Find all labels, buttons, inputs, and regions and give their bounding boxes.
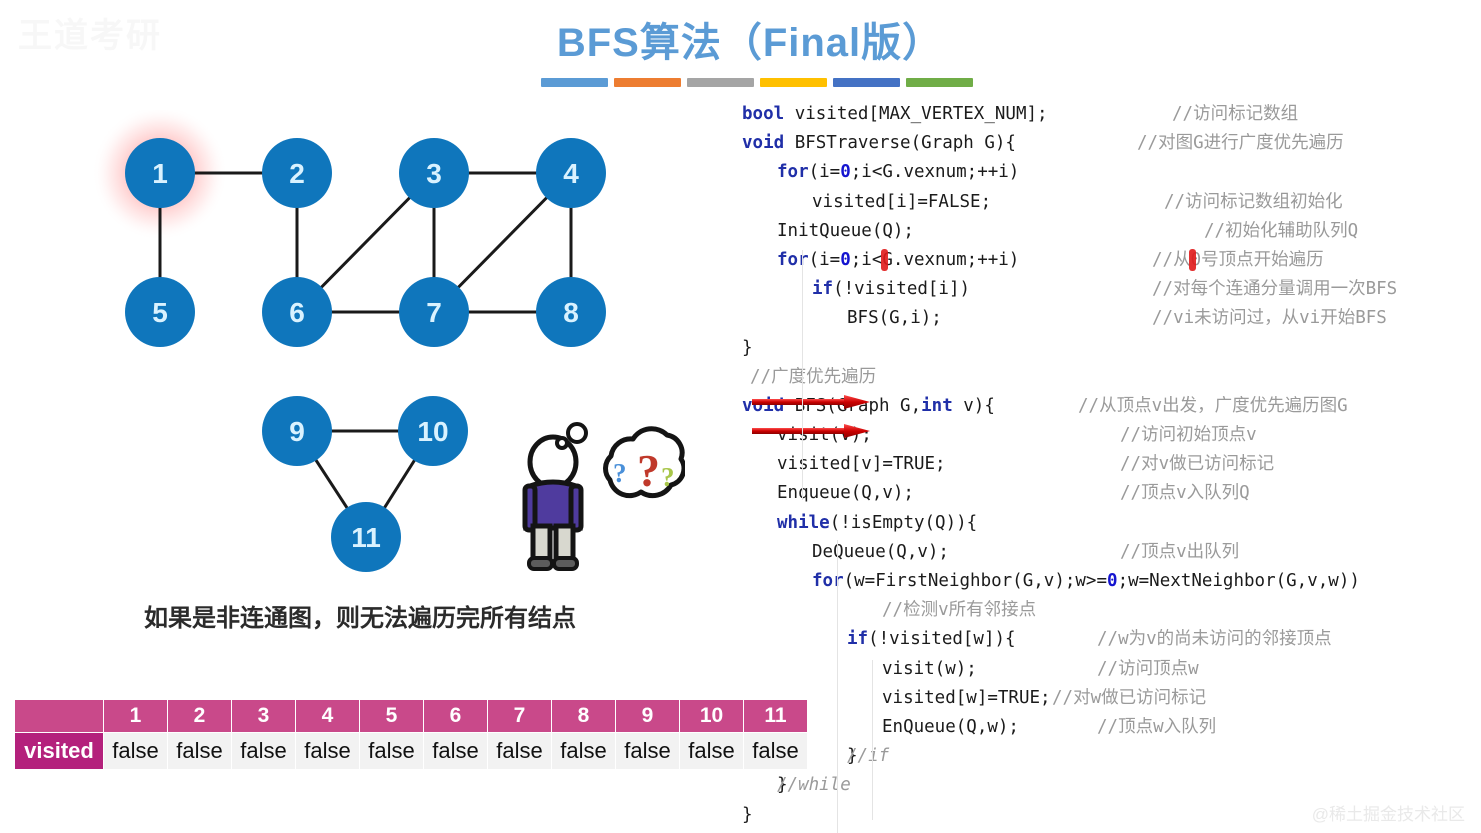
code-comment: //对w做已访问标记 xyxy=(1052,684,1206,713)
table-col-header: 9 xyxy=(616,700,680,733)
bar-yellow xyxy=(760,78,827,87)
graph-node-11[interactable]: 11 xyxy=(331,502,401,572)
code-comment: //访问初始顶点v xyxy=(1120,421,1257,450)
code-line-l08: BFS(G,i);//vi未访问过，从vi开始BFS xyxy=(742,304,1481,333)
graph-node-5[interactable]: 5 xyxy=(125,277,195,347)
code-text: visited[w]=TRUE; xyxy=(882,684,1051,713)
red-annotation-mark xyxy=(1189,249,1196,271)
code-comment: //顶点v出队列 xyxy=(1120,538,1239,567)
svg-text:?: ? xyxy=(613,458,627,488)
table-col-header: 7 xyxy=(488,700,552,733)
code-line-l23: }//if xyxy=(742,742,1481,771)
code-text: for(w=FirstNeighbor(G,v);w>=0;w=NextNeig… xyxy=(812,567,1360,596)
code-comment: //从顶点v出发，广度优先遍历图G xyxy=(1078,392,1348,421)
code-comment: //w为v的尚未访问的邻接顶点 xyxy=(1097,625,1332,654)
code-text: EnQueue(Q,w); xyxy=(882,713,1019,742)
visited-cell-7: false xyxy=(488,733,552,770)
graph-node-1[interactable]: 1 xyxy=(125,138,195,208)
code-line-l09: } xyxy=(742,334,1481,363)
node-label: 4 xyxy=(563,158,579,189)
node-label: 8 xyxy=(563,297,579,328)
code-text: visited[i]=FALSE; xyxy=(812,188,991,217)
visited-table: 1234567891011 visited falsefalsefalsefal… xyxy=(14,699,808,770)
node-label: 10 xyxy=(417,416,448,447)
code-line-l01: bool visited[MAX_VERTEX_NUM];//访问标记数组 xyxy=(742,100,1481,129)
code-comment: //对v做已访问标记 xyxy=(1120,450,1274,479)
node-label: 5 xyxy=(152,297,168,328)
visited-cell-2: false xyxy=(168,733,232,770)
visited-cell-8: false xyxy=(552,733,616,770)
code-line-l02: void BFSTraverse(Graph G){//对图G进行广度优先遍历 xyxy=(742,129,1481,158)
code-line-l20: visit(w);//访问顶点w xyxy=(742,655,1481,684)
code-text: visit(w); xyxy=(882,655,977,684)
arrow-icon xyxy=(752,423,872,439)
bar-orange xyxy=(614,78,681,87)
table-col-header: 6 xyxy=(424,700,488,733)
table-header-blank xyxy=(15,700,104,733)
code-line-l05: InitQueue(Q);//初始化辅助队列Q xyxy=(742,217,1481,246)
code-comment: //访问顶点w xyxy=(1097,655,1199,684)
svg-text:?: ? xyxy=(661,462,675,492)
code-line-l13: visited[v]=TRUE;//对v做已访问标记 xyxy=(742,450,1481,479)
visited-cell-4: false xyxy=(296,733,360,770)
table-row: visited falsefalsefalsefalsefalsefalsefa… xyxy=(15,733,808,770)
code-text: DeQueue(Q,v); xyxy=(812,538,949,567)
code-line-l14: Enqueue(Q,v);//顶点v入队列Q xyxy=(742,479,1481,508)
code-comment: //对图G进行广度优先遍历 xyxy=(1137,129,1344,158)
arrow-bfs-call xyxy=(752,420,872,434)
code-text: for(i=0;i<G.vexnum;++i) xyxy=(777,246,1019,275)
visited-cell-10: false xyxy=(680,733,744,770)
code-line-l15: while(!isEmpty(Q)){ xyxy=(742,509,1481,538)
bar-green xyxy=(906,78,973,87)
code-text: if(!visited[i]) xyxy=(812,275,970,304)
table-col-header: 5 xyxy=(360,700,424,733)
node-label: 2 xyxy=(289,158,305,189)
graph-node-9[interactable]: 9 xyxy=(262,396,332,466)
code-line-l07: if(!visited[i])//对每个连通分量调用一次BFS xyxy=(742,275,1481,304)
code-line-l22: EnQueue(Q,w);//顶点w入队列 xyxy=(742,713,1481,742)
code-panel: bool visited[MAX_VERTEX_NUM];//访问标记数组voi… xyxy=(742,100,1481,830)
code-indent-guide xyxy=(872,660,873,820)
table-col-header: 8 xyxy=(552,700,616,733)
page-title: BFS算法（Final版） xyxy=(470,10,1030,68)
table-col-header: 10 xyxy=(680,700,744,733)
node-label: 3 xyxy=(426,158,442,189)
accent-bar-row xyxy=(541,78,973,87)
table-col-header: 4 xyxy=(296,700,360,733)
code-line-l19: if(!visited[w]){//w为v的尚未访问的邻接顶点 xyxy=(742,625,1481,654)
table-header-row: 1234567891011 xyxy=(15,700,808,733)
arrow-if-visited xyxy=(752,391,872,405)
code-comment: //顶点v入队列Q xyxy=(1120,479,1250,508)
code-line-l10: //广度优先遍历 xyxy=(742,363,1481,392)
table-col-header: 1 xyxy=(104,700,168,733)
node-label: 1 xyxy=(152,158,168,189)
code-text: if(!visited[w]){ xyxy=(847,625,1016,654)
code-text: bool visited[MAX_VERTEX_NUM]; xyxy=(742,100,1048,129)
table-col-header: 2 xyxy=(168,700,232,733)
visited-cell-9: false xyxy=(616,733,680,770)
svg-text:?: ? xyxy=(637,445,660,496)
code-comment: //广度优先遍历 xyxy=(750,363,876,392)
code-line-l17: for(w=FirstNeighbor(G,v);w>=0;w=NextNeig… xyxy=(742,567,1481,596)
code-indent-guide xyxy=(837,540,838,833)
code-comment: //访问标记数组 xyxy=(1172,100,1298,129)
visited-cell-6: false xyxy=(424,733,488,770)
code-comment: //while xyxy=(777,771,851,800)
code-comment: //顶点w入队列 xyxy=(1097,713,1216,742)
visited-row-label: visited xyxy=(15,733,104,770)
code-comment: //访问标记数组初始化 xyxy=(1164,188,1343,217)
visited-cell-1: false xyxy=(104,733,168,770)
slide-root: 王道考研 @稀土掘金技术社区 BFS算法（Final版） 12345678910… xyxy=(0,0,1481,833)
code-comment: //if xyxy=(847,742,889,771)
graph-node-8[interactable]: 8 xyxy=(536,277,606,347)
graph-illustration-area: 1234567891011 ? ? ? xyxy=(0,110,800,650)
graph-node-2[interactable]: 2 xyxy=(262,138,332,208)
bar-gray xyxy=(687,78,754,87)
code-indent-guide xyxy=(802,250,803,500)
code-line-l18: //检测v所有邻接点 xyxy=(742,596,1481,625)
non-connected-graph-caption: 如果是非连通图，则无法遍历完所有结点 xyxy=(0,598,720,633)
code-line-l03: for(i=0;i<G.vexnum;++i) xyxy=(742,158,1481,187)
bar-blue-light xyxy=(541,78,608,87)
visited-cell-3: false xyxy=(232,733,296,770)
graph-node-10[interactable]: 10 xyxy=(398,396,468,466)
graph-node-4[interactable]: 4 xyxy=(536,138,606,208)
red-annotation-mark xyxy=(881,249,888,271)
code-text: } xyxy=(742,334,753,363)
code-comment: //对每个连通分量调用一次BFS xyxy=(1152,275,1397,304)
confused-person-illustration: ? ? ? xyxy=(505,420,685,580)
code-line-l25: } xyxy=(742,801,1481,830)
code-comment: //初始化辅助队列Q xyxy=(1204,217,1358,246)
code-comment: //检测v所有邻接点 xyxy=(882,596,1036,625)
graph-node-7[interactable]: 7 xyxy=(399,277,469,347)
node-label: 7 xyxy=(426,297,442,328)
code-text: Enqueue(Q,v); xyxy=(777,479,914,508)
node-label: 6 xyxy=(289,297,305,328)
code-text: } xyxy=(742,801,753,830)
code-text: InitQueue(Q); xyxy=(777,217,914,246)
bar-blue-dark xyxy=(833,78,900,87)
node-label: 9 xyxy=(289,416,305,447)
code-comment: //从0号顶点开始遍历 xyxy=(1152,246,1324,275)
graph-node-6[interactable]: 6 xyxy=(262,277,332,347)
code-line-l24: }//while xyxy=(742,771,1481,800)
code-line-l04: visited[i]=FALSE;//访问标记数组初始化 xyxy=(742,188,1481,217)
code-text: while(!isEmpty(Q)){ xyxy=(777,509,977,538)
watermark-top-left: 王道考研 xyxy=(18,8,162,57)
graph-node-3[interactable]: 3 xyxy=(399,138,469,208)
arrow-icon xyxy=(752,394,872,410)
code-comment: //vi未访问过，从vi开始BFS xyxy=(1152,304,1387,333)
code-line-l06: for(i=0;i<G.vexnum;++i)//从0号顶点开始遍历 xyxy=(742,246,1481,275)
node-label: 11 xyxy=(351,522,381,553)
visited-cell-5: false xyxy=(360,733,424,770)
table-col-header: 3 xyxy=(232,700,296,733)
code-text: for(i=0;i<G.vexnum;++i) xyxy=(777,158,1019,187)
code-text: BFS(G,i); xyxy=(847,304,942,333)
code-line-l21: visited[w]=TRUE;//对w做已访问标记 xyxy=(742,684,1481,713)
code-line-l16: DeQueue(Q,v);//顶点v出队列 xyxy=(742,538,1481,567)
code-text: void BFSTraverse(Graph G){ xyxy=(742,129,1016,158)
